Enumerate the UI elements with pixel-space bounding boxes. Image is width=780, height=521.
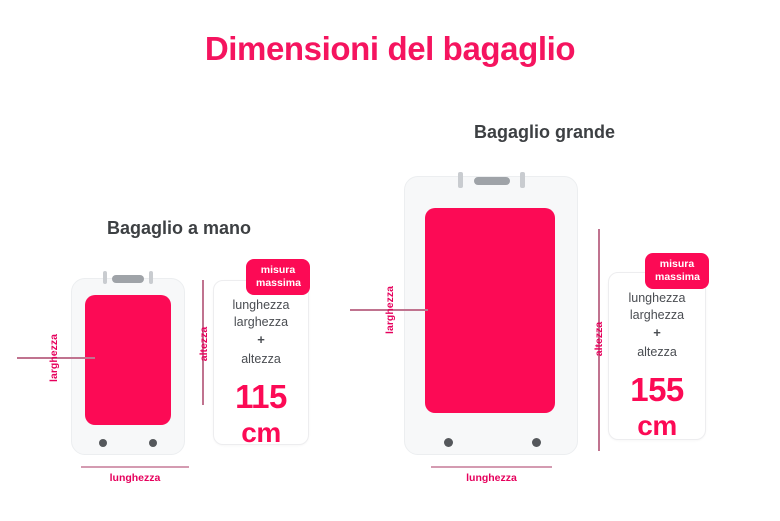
wheel-left-icon [99, 439, 107, 447]
wheel-left-icon [444, 438, 453, 447]
wheel-right-icon [532, 438, 541, 447]
info-card-cabin: lunghezza larghezza + altezza 115 cm [213, 280, 309, 445]
card-line-lunghezza-hold: lunghezza [629, 290, 686, 307]
dim-label-larghezza-hold: larghezza [384, 282, 396, 338]
suitcase-hold [404, 176, 578, 455]
card-plus-hold: + [653, 324, 661, 342]
handle-bar-icon [474, 177, 510, 185]
badge-line2-hold: massima [655, 271, 699, 284]
handle-post-left-icon [458, 172, 463, 188]
handle-post-left-icon [103, 271, 107, 284]
infographic-canvas: Dimensioni del bagaglio Bagaglio a mano … [0, 0, 780, 521]
dim-label-lunghezza-cabin: lunghezza [81, 472, 189, 484]
card-number-cabin: 115 [235, 378, 287, 416]
badge-misura-massima-cabin: misura massima [246, 259, 310, 295]
badge-line1-cabin: misura [256, 264, 300, 277]
card-unit-cabin: cm [241, 416, 280, 449]
card-line-lunghezza-cabin: lunghezza [233, 297, 290, 314]
dim-label-altezza-hold: altezza [593, 311, 605, 367]
dim-label-altezza-cabin: altezza [198, 316, 210, 372]
section-heading-hold: Bagaglio grande [474, 122, 615, 143]
section-heading-cabin: Bagaglio a mano [107, 218, 251, 239]
dim-label-larghezza-cabin: larghezza [48, 330, 60, 386]
suitcase-panel-cabin [85, 295, 171, 425]
suitcase-panel-hold [425, 208, 555, 413]
card-plus-cabin: + [257, 331, 265, 349]
badge-line1-hold: misura [655, 258, 699, 271]
rule-lunghezza-hold [431, 466, 552, 468]
wheel-right-icon [149, 439, 157, 447]
card-unit-hold: cm [637, 409, 676, 442]
card-line-larghezza-hold: larghezza [630, 307, 684, 324]
card-number-hold: 155 [630, 371, 684, 409]
handle-post-right-icon [520, 172, 525, 188]
info-card-hold: lunghezza larghezza + altezza 155 cm [608, 272, 706, 440]
badge-misura-massima-hold: misura massima [645, 253, 709, 289]
page-title: Dimensioni del bagaglio [0, 30, 780, 68]
suitcase-cabin [71, 278, 185, 455]
rule-lunghezza-cabin [81, 466, 189, 468]
handle-post-right-icon [149, 271, 153, 284]
card-line-larghezza-cabin: larghezza [234, 314, 288, 331]
dim-label-lunghezza-hold: lunghezza [431, 472, 552, 484]
handle-bar-icon [112, 275, 144, 283]
badge-line2-cabin: massima [256, 277, 300, 290]
card-line-altezza-cabin: altezza [241, 351, 281, 368]
card-line-altezza-hold: altezza [637, 344, 677, 361]
